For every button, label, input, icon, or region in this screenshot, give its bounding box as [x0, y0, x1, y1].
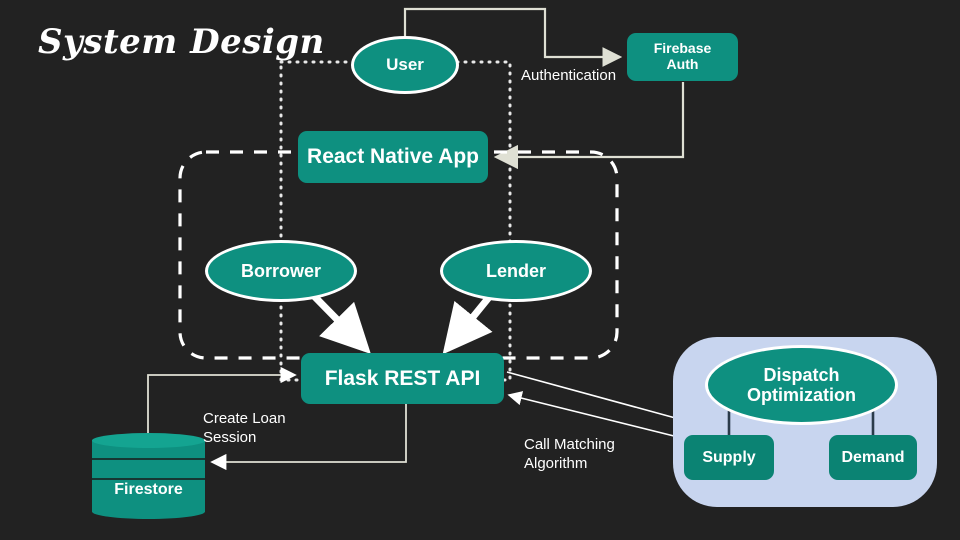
- label-create-loan-session: Create Loan Session: [203, 410, 286, 448]
- cylinder-top: [92, 433, 205, 448]
- dispatch-optimization-label-line2: Optimization: [747, 385, 856, 405]
- node-supply[interactable]: Supply: [684, 435, 774, 480]
- node-firebase-auth[interactable]: Firebase Auth: [627, 33, 738, 81]
- node-flask-rest-api[interactable]: Flask REST API: [301, 353, 504, 404]
- cylinder-band-1: [92, 458, 205, 460]
- system-design-diagram: Firestore User Firebase Auth React Nativ…: [0, 0, 960, 540]
- label-authentication: Authentication: [521, 67, 616, 86]
- node-demand[interactable]: Demand: [829, 435, 917, 480]
- react-native-app-label: React Native App: [307, 145, 479, 169]
- firebase-auth-label-line1: Firebase: [654, 41, 712, 57]
- node-dispatch-optimization[interactable]: Dispatch Optimization: [705, 345, 898, 425]
- user-label: User: [386, 55, 424, 74]
- node-lender[interactable]: Lender: [440, 240, 592, 302]
- node-react-native-app[interactable]: React Native App: [298, 131, 488, 183]
- firestore-cylinder: Firestore: [92, 433, 205, 519]
- borrower-label: Borrower: [241, 261, 321, 281]
- firebase-auth-label-line2: Auth: [667, 57, 699, 73]
- supply-label: Supply: [702, 449, 755, 467]
- lender-label: Lender: [486, 261, 546, 281]
- label-call-matching-algorithm: Call Matching Algorithm: [524, 436, 615, 474]
- cylinder-band-2: [92, 478, 205, 480]
- cylinder-body: [92, 440, 205, 512]
- flask-rest-api-label: Flask REST API: [325, 367, 481, 391]
- firestore-label: Firestore: [92, 481, 205, 499]
- node-borrower[interactable]: Borrower: [205, 240, 357, 302]
- demand-label: Demand: [841, 449, 904, 467]
- cylinder-bottom: [92, 504, 205, 519]
- node-user[interactable]: User: [351, 36, 459, 94]
- dispatch-optimization-label-line1: Dispatch: [763, 365, 839, 385]
- page-title: System Design: [38, 22, 325, 62]
